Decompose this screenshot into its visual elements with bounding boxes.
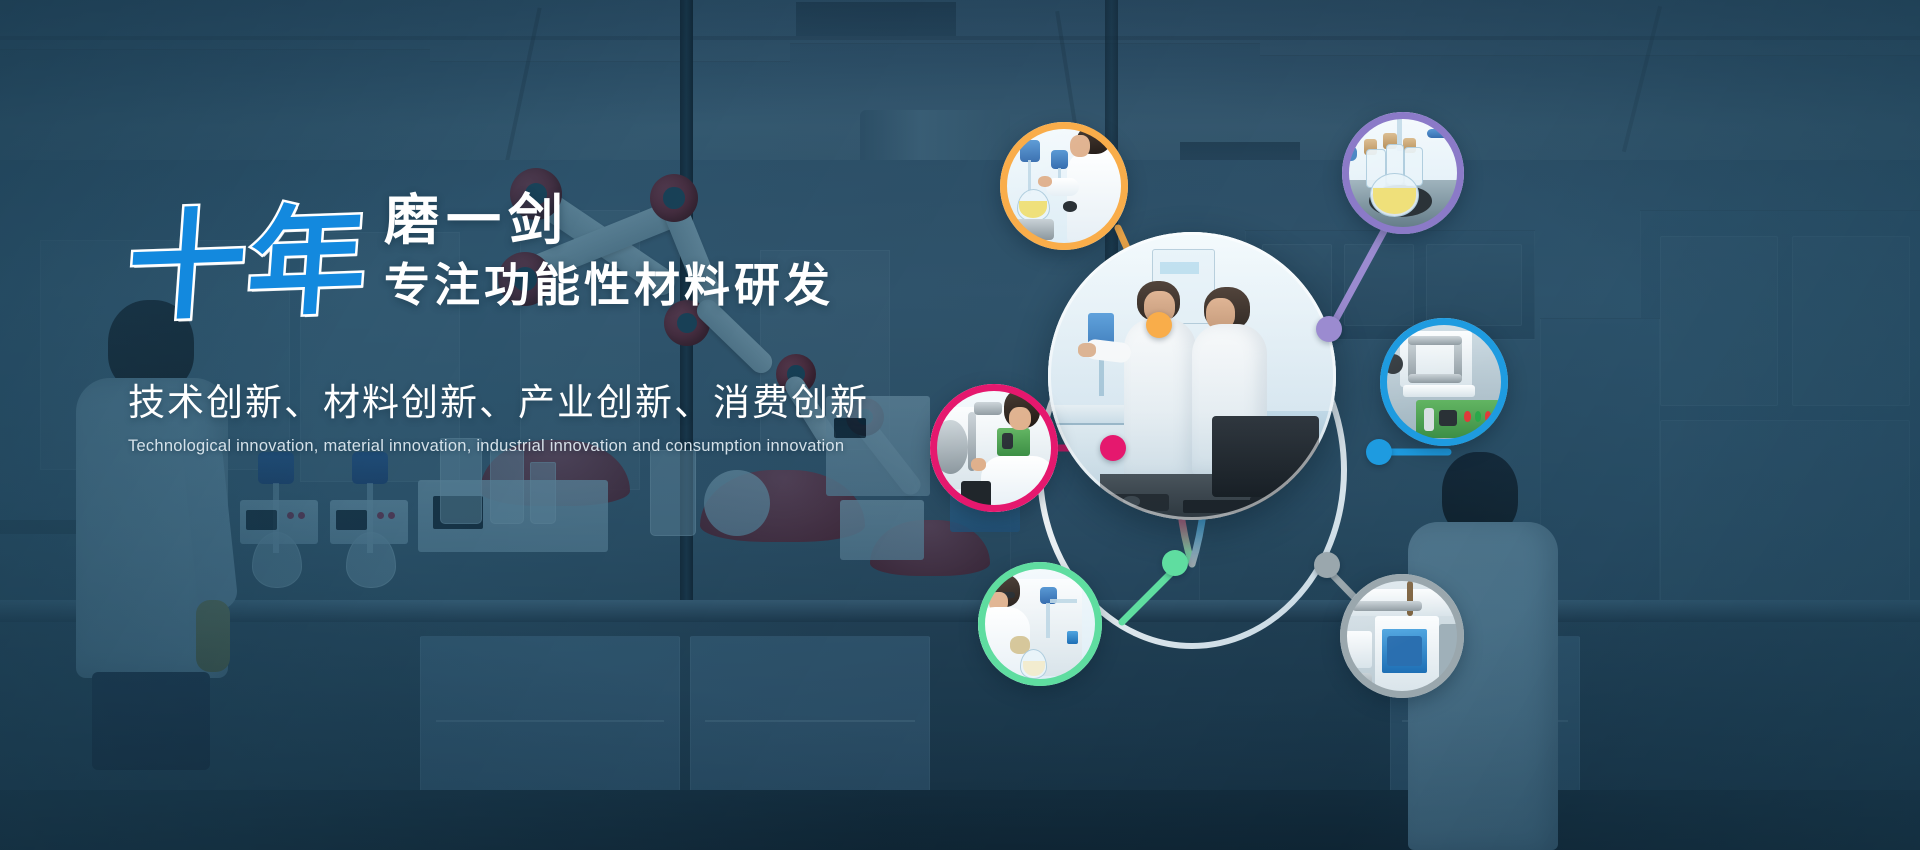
headline-row: 十年 磨一剑 专注功能性材料研发 (128, 188, 828, 320)
ceiling-tile (430, 0, 790, 62)
round-apparatus (704, 470, 770, 536)
calligraphy-title: 十年 (124, 203, 373, 325)
bubble-three-neck-flask[interactable] (1342, 112, 1464, 234)
headline-line-2: 专注功能性材料研发 (384, 257, 834, 315)
cabinet-door (1660, 420, 1910, 610)
ceiling-duct (796, 2, 956, 36)
lab-instrument (840, 500, 924, 560)
controller-unit (330, 500, 408, 544)
bubble-tensile-tester[interactable] (1380, 318, 1508, 446)
ceiling-tile (1260, 0, 1920, 56)
bubble-coating-machine[interactable] (930, 384, 1058, 512)
subtitle-english: Technological innovation, material innov… (128, 437, 828, 456)
cabinet-door (1792, 236, 1910, 406)
spoke-bottom-left (1122, 568, 1176, 622)
node-green (1162, 550, 1188, 576)
spoke-top-right (1330, 220, 1390, 330)
lab-cabinet (1540, 318, 1660, 618)
banner-stage: 十年 磨一剑 专注功能性材料研发 技术创新、材料创新、产业创新、消费创新 Tec… (0, 0, 1920, 850)
ceiling-tile (0, 0, 430, 50)
center-photo-circle: iFound (1048, 232, 1336, 520)
banner-copy: 十年 磨一剑 专注功能性材料研发 技术创新、材料创新、产业创新、消费创新 Tec… (128, 188, 828, 456)
bubble-sample-prep[interactable] (978, 562, 1102, 686)
bench-top (0, 600, 1920, 622)
headline-group: 磨一剑 专注功能性材料研发 (384, 188, 834, 320)
subtitle-chinese: 技术创新、材料创新、产业创新、消费创新 (128, 372, 828, 426)
cabinet-door (1660, 236, 1778, 406)
node-purple (1316, 316, 1342, 342)
bubble-analysis-station[interactable] (1340, 574, 1464, 698)
node-orange (1146, 312, 1172, 338)
ceiling-beam (0, 36, 1920, 40)
node-blue (1366, 439, 1392, 465)
node-pink (1100, 435, 1126, 461)
headline-line-1: 磨一剑 (384, 188, 834, 253)
node-gray (1314, 552, 1340, 578)
beaker (650, 450, 696, 536)
beaker (490, 450, 524, 524)
floor (0, 790, 1920, 850)
bubble-reactor-operator[interactable] (1000, 122, 1128, 250)
beaker (530, 462, 556, 524)
controller-unit (240, 500, 318, 544)
circular-diagram: iFound (1000, 100, 1500, 740)
